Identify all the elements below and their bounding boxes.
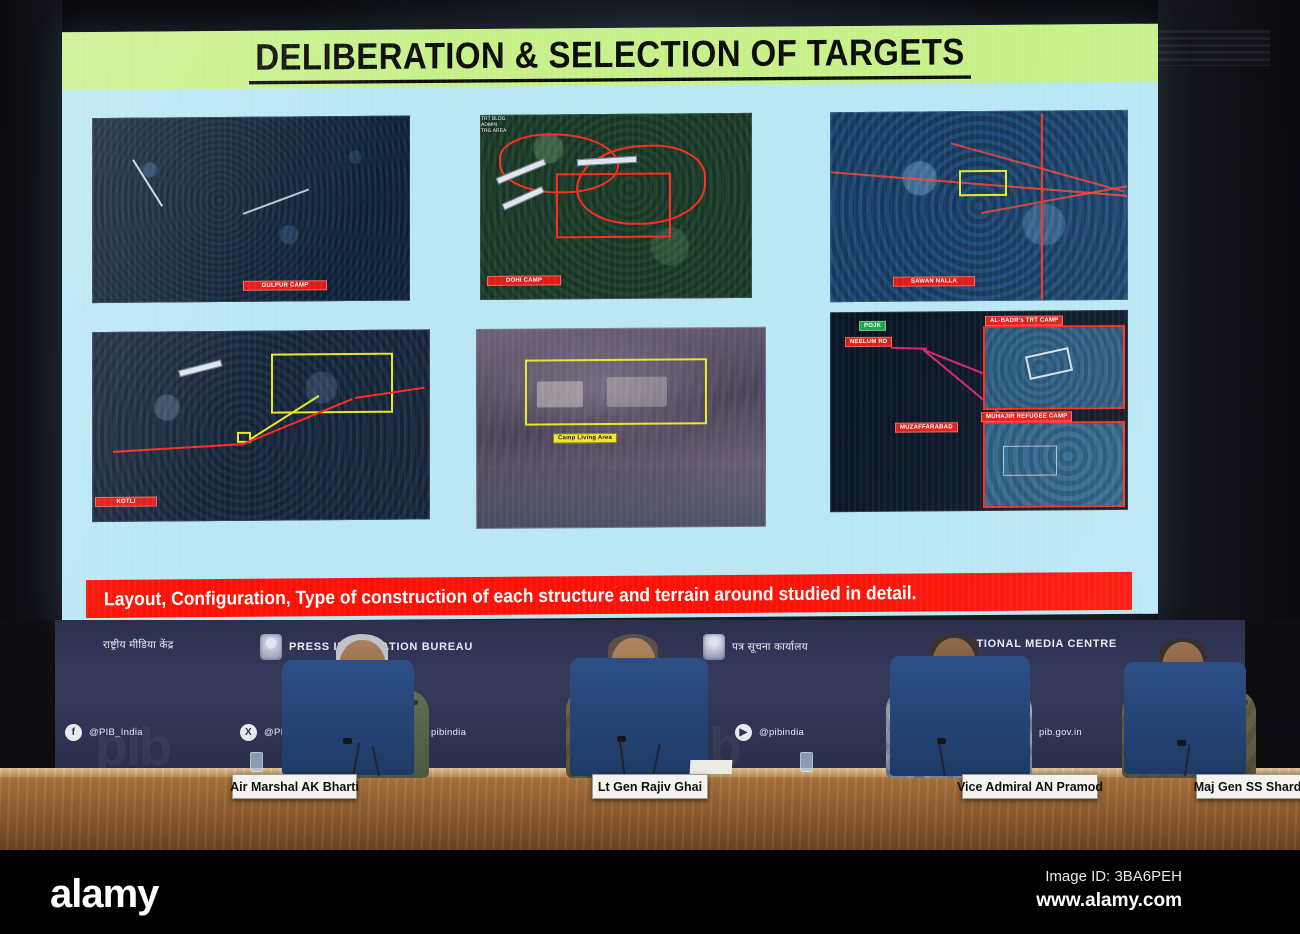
backdrop-brand-hindi-2: पत्र सूचना कार्यालय bbox=[703, 634, 808, 660]
social-facebook: f @PIB_India bbox=[65, 724, 143, 741]
nameplate-sharda: Maj Gen SS Sharda bbox=[1196, 774, 1300, 799]
projection-screen: DELIBERATION & SELECTION OF TARGETS GULP… bbox=[62, 24, 1158, 623]
nameplate-bharti: Air Marshal AK Bharti bbox=[232, 774, 357, 799]
social-youtube-handle: @pibindia bbox=[759, 727, 804, 738]
social-youtube: ▶ @pibindia bbox=[735, 724, 804, 741]
emblem-of-india-icon bbox=[703, 634, 725, 660]
map-label-pojk: POJK bbox=[859, 321, 886, 331]
nameplate-ghai: Lt Gen Rajiv Ghai bbox=[592, 774, 708, 799]
tile-label-sawan: SAWAN NALLA bbox=[893, 276, 975, 287]
pib-logo-icon bbox=[260, 634, 282, 660]
tile-label-dohi: DOHI CAMP bbox=[487, 275, 561, 286]
youtube-icon: ▶ bbox=[735, 724, 752, 741]
image-id-label: Image ID: 3BA6PEH bbox=[1045, 868, 1182, 885]
social-website-handle: pib.gov.in bbox=[1039, 727, 1082, 738]
press-conference-scene: DELIBERATION & SELECTION OF TARGETS GULP… bbox=[0, 0, 1300, 934]
slide-title-bar: DELIBERATION & SELECTION OF TARGETS bbox=[62, 24, 1158, 91]
alamy-watermark-footer: alamy Image ID: 3BA6PEH www.alamy.com bbox=[0, 850, 1300, 934]
nameplate-pramod-text: Vice Admiral AN Pramod bbox=[957, 779, 1103, 794]
brand-english-2-text: NATIONAL MEDIA CENTRE bbox=[960, 638, 1117, 650]
nameplate-pramod: Vice Admiral AN Pramod bbox=[962, 774, 1098, 799]
tile-kotli: KOTLI bbox=[92, 329, 430, 522]
ceiling-vent bbox=[1150, 30, 1270, 66]
tile-gulpur-camp: GULPUR CAMP bbox=[92, 116, 410, 303]
tile-sawan-nalla: SAWAN NALLA bbox=[830, 110, 1128, 302]
facebook-icon: f bbox=[65, 724, 82, 741]
satellite-image-grid: GULPUR CAMP TRT BLDG ADMIN TRG AREA DOHI… bbox=[88, 102, 1132, 550]
tile-label-kotli: KOTLI bbox=[95, 497, 157, 507]
social-instagram-handle: pibindia bbox=[431, 727, 466, 738]
nameplate-sharda-text: Maj Gen SS Sharda bbox=[1194, 779, 1300, 794]
tile-label-camp-living: Camp Living Area bbox=[553, 433, 617, 444]
wall-panel-right bbox=[1158, 0, 1300, 620]
tile-muzaffarabad-map: POJK NEELUM RD MUZAFFARABAD AL-BADR's TR… bbox=[830, 310, 1128, 512]
tile-label-gulpur: GULPUR CAMP bbox=[243, 280, 327, 291]
banner-text: Layout, Configuration, Type of construct… bbox=[86, 581, 917, 610]
map-label-al-badr-camp: AL-BADR's TRT CAMP bbox=[985, 315, 1063, 326]
page-title: DELIBERATION & SELECTION OF TARGETS bbox=[249, 30, 970, 84]
nameplate-ghai-text: Lt Gen Rajiv Ghai bbox=[598, 779, 702, 794]
map-label-neelum-rd: NEELUM RD bbox=[845, 337, 892, 347]
nameplate-bharti-text: Air Marshal AK Bharti bbox=[230, 779, 359, 794]
alamy-logo: alamy bbox=[50, 872, 158, 917]
x-twitter-icon: X bbox=[240, 724, 257, 741]
backdrop-brand-hindi-1: राष्ट्रीय मीडिया केंद्र bbox=[103, 638, 174, 652]
brand-hindi-2-text: पत्र सूचना कार्यालय bbox=[732, 640, 808, 654]
brand-hindi-1-text: राष्ट्रीय मीडिया केंद्र bbox=[103, 638, 174, 652]
tile-dohi-camp: TRT BLDG ADMIN TRG AREA DOHI CAMP bbox=[480, 113, 752, 300]
map-label-muhajir-camp: MUHAJIR REFUGEE CAMP bbox=[981, 411, 1072, 422]
wall-panel-left bbox=[0, 0, 62, 620]
annotation-note-3: TRG AREA bbox=[481, 126, 751, 134]
slide-banner: Layout, Configuration, Type of construct… bbox=[86, 572, 1132, 618]
tile-camp-living-area: Camp Living Area bbox=[476, 327, 766, 529]
backdrop-brand-english-2: NATIONAL MEDIA CENTRE bbox=[960, 638, 1117, 650]
social-facebook-handle: @PIB_India bbox=[89, 727, 143, 738]
map-label-muzaffarabad: MUZAFFARABAD bbox=[895, 422, 958, 432]
alamy-url: www.alamy.com bbox=[1036, 890, 1182, 912]
